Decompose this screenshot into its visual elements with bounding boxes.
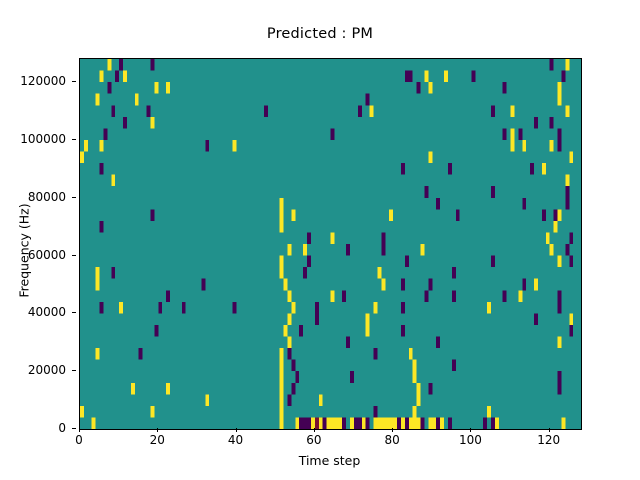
- x-tick-label: 100: [459, 433, 482, 447]
- x-tick-label: 0: [75, 433, 83, 447]
- x-tick-label: 120: [537, 433, 560, 447]
- y-tick-mark: [72, 428, 76, 429]
- y-tick-label: 0: [0, 421, 72, 435]
- y-tick-label: 100000: [0, 132, 72, 146]
- y-tick-mark: [72, 255, 76, 256]
- x-tick-mark: [79, 428, 80, 432]
- x-tick-mark: [470, 428, 471, 432]
- y-tick-label: 20000: [0, 363, 72, 377]
- y-tick-label: 80000: [0, 190, 72, 204]
- heatmap-image: [80, 59, 581, 429]
- y-tick-mark: [72, 312, 76, 313]
- x-tick-mark: [157, 428, 158, 432]
- y-tick-mark: [72, 139, 76, 140]
- y-tick-label: 120000: [0, 74, 72, 88]
- y-tick-label: 60000: [0, 248, 72, 262]
- x-tick-mark: [236, 428, 237, 432]
- heatmap-plot-area[interactable]: [79, 58, 582, 430]
- y-tick-mark: [72, 197, 76, 198]
- x-tick-label: 20: [150, 433, 165, 447]
- x-tick-label: 40: [228, 433, 243, 447]
- y-axis-tick-labels: 020000400006000080000100000120000: [0, 58, 72, 428]
- x-tick-label: 60: [306, 433, 321, 447]
- x-axis-tick-labels: 020406080100120: [79, 433, 580, 451]
- y-tick-mark: [72, 81, 76, 82]
- x-axis-label: Time step: [79, 453, 580, 468]
- x-tick-mark: [314, 428, 315, 432]
- y-tick-mark: [72, 370, 76, 371]
- x-tick-mark: [549, 428, 550, 432]
- y-tick-label: 40000: [0, 305, 72, 319]
- matplotlib-figure: Predicted : PM Frequency (Hz) 0200004000…: [0, 0, 640, 480]
- page-title: Predicted : PM: [0, 26, 640, 42]
- x-tick-label: 80: [384, 433, 399, 447]
- x-tick-mark: [392, 428, 393, 432]
